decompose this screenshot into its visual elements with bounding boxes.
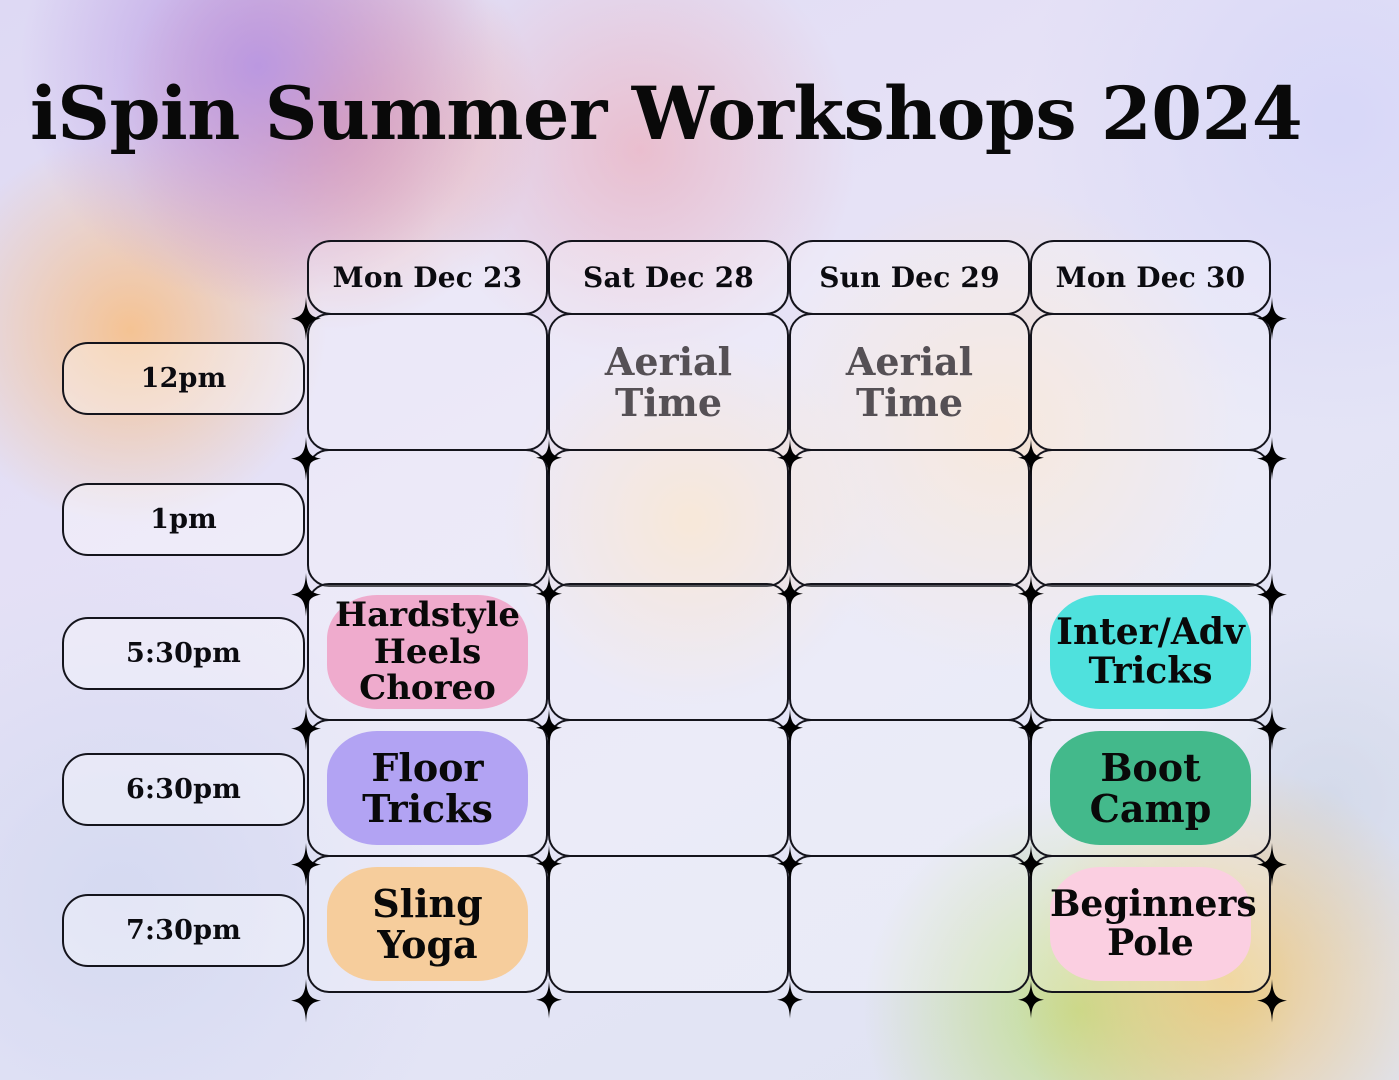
time-label-12pm[interactable]: 12pm [62,342,305,415]
calendar-cell[interactable] [307,449,548,587]
calendar-cell[interactable] [789,855,1030,993]
event-label: SlingYoga [327,883,528,965]
time-label-630pm[interactable]: 6:30pm [62,753,305,826]
event-inter-adv-tricks[interactable]: Inter/AdvTricks [1050,595,1251,709]
time-label-730pm[interactable]: 7:30pm [62,894,305,967]
day-header-sat-dec-28[interactable]: Sat Dec 28 [548,240,789,315]
event-label: HardstyleHeelsChoreo [327,597,528,707]
day-header-mon-dec-30[interactable]: Mon Dec 30 [1030,240,1271,315]
day-header-sun-dec-29[interactable]: Sun Dec 29 [789,240,1030,315]
event-hardstyle-heels-choreo[interactable]: HardstyleHeelsChoreo [327,595,528,709]
calendar-cell[interactable] [789,583,1030,721]
schedule-sheet: iSpin Summer Workshops 2024 Mon Dec 23Sa… [0,0,1399,1080]
calendar-cell[interactable] [1030,449,1271,587]
event-beginners-pole[interactable]: BeginnersPole [1050,867,1251,981]
calendar-cell[interactable] [789,449,1030,587]
time-label-text: 7:30pm [126,915,241,946]
calendar-cell[interactable] [1030,313,1271,451]
page-title: iSpin Summer Workshops 2024 [30,78,1375,151]
time-label-text: 12pm [141,363,227,394]
event-label: FloorTricks [327,747,528,829]
event-sling-yoga[interactable]: SlingYoga [327,867,528,981]
day-header-label: Sat Dec 28 [583,261,754,294]
time-label-text: 1pm [150,504,217,535]
day-header-label: Sun Dec 29 [819,261,1000,294]
calendar-cell[interactable] [789,719,1030,857]
calendar-cell[interactable] [548,449,789,587]
event-aerial-time-sat[interactable]: AerialTime [568,325,769,439]
time-label-530pm[interactable]: 5:30pm [62,617,305,690]
calendar-cell[interactable] [307,313,548,451]
event-label: Inter/AdvTricks [1050,613,1251,691]
day-header-mon-dec-23[interactable]: Mon Dec 23 [307,240,548,315]
event-label: BeginnersPole [1050,885,1251,963]
calendar-cell[interactable] [548,855,789,993]
day-header-label: Mon Dec 30 [1056,261,1246,294]
calendar-cell[interactable] [548,583,789,721]
event-aerial-time-sun[interactable]: AerialTime [809,325,1010,439]
day-header-label: Mon Dec 23 [333,261,523,294]
time-label-1pm[interactable]: 1pm [62,483,305,556]
event-floor-tricks[interactable]: FloorTricks [327,731,528,845]
time-label-text: 5:30pm [126,638,241,669]
event-label: AerialTime [568,341,769,423]
calendar-cell[interactable] [548,719,789,857]
time-label-text: 6:30pm [126,774,241,805]
event-label: BootCamp [1050,747,1251,829]
event-boot-camp[interactable]: BootCamp [1050,731,1251,845]
event-label: AerialTime [809,341,1010,423]
